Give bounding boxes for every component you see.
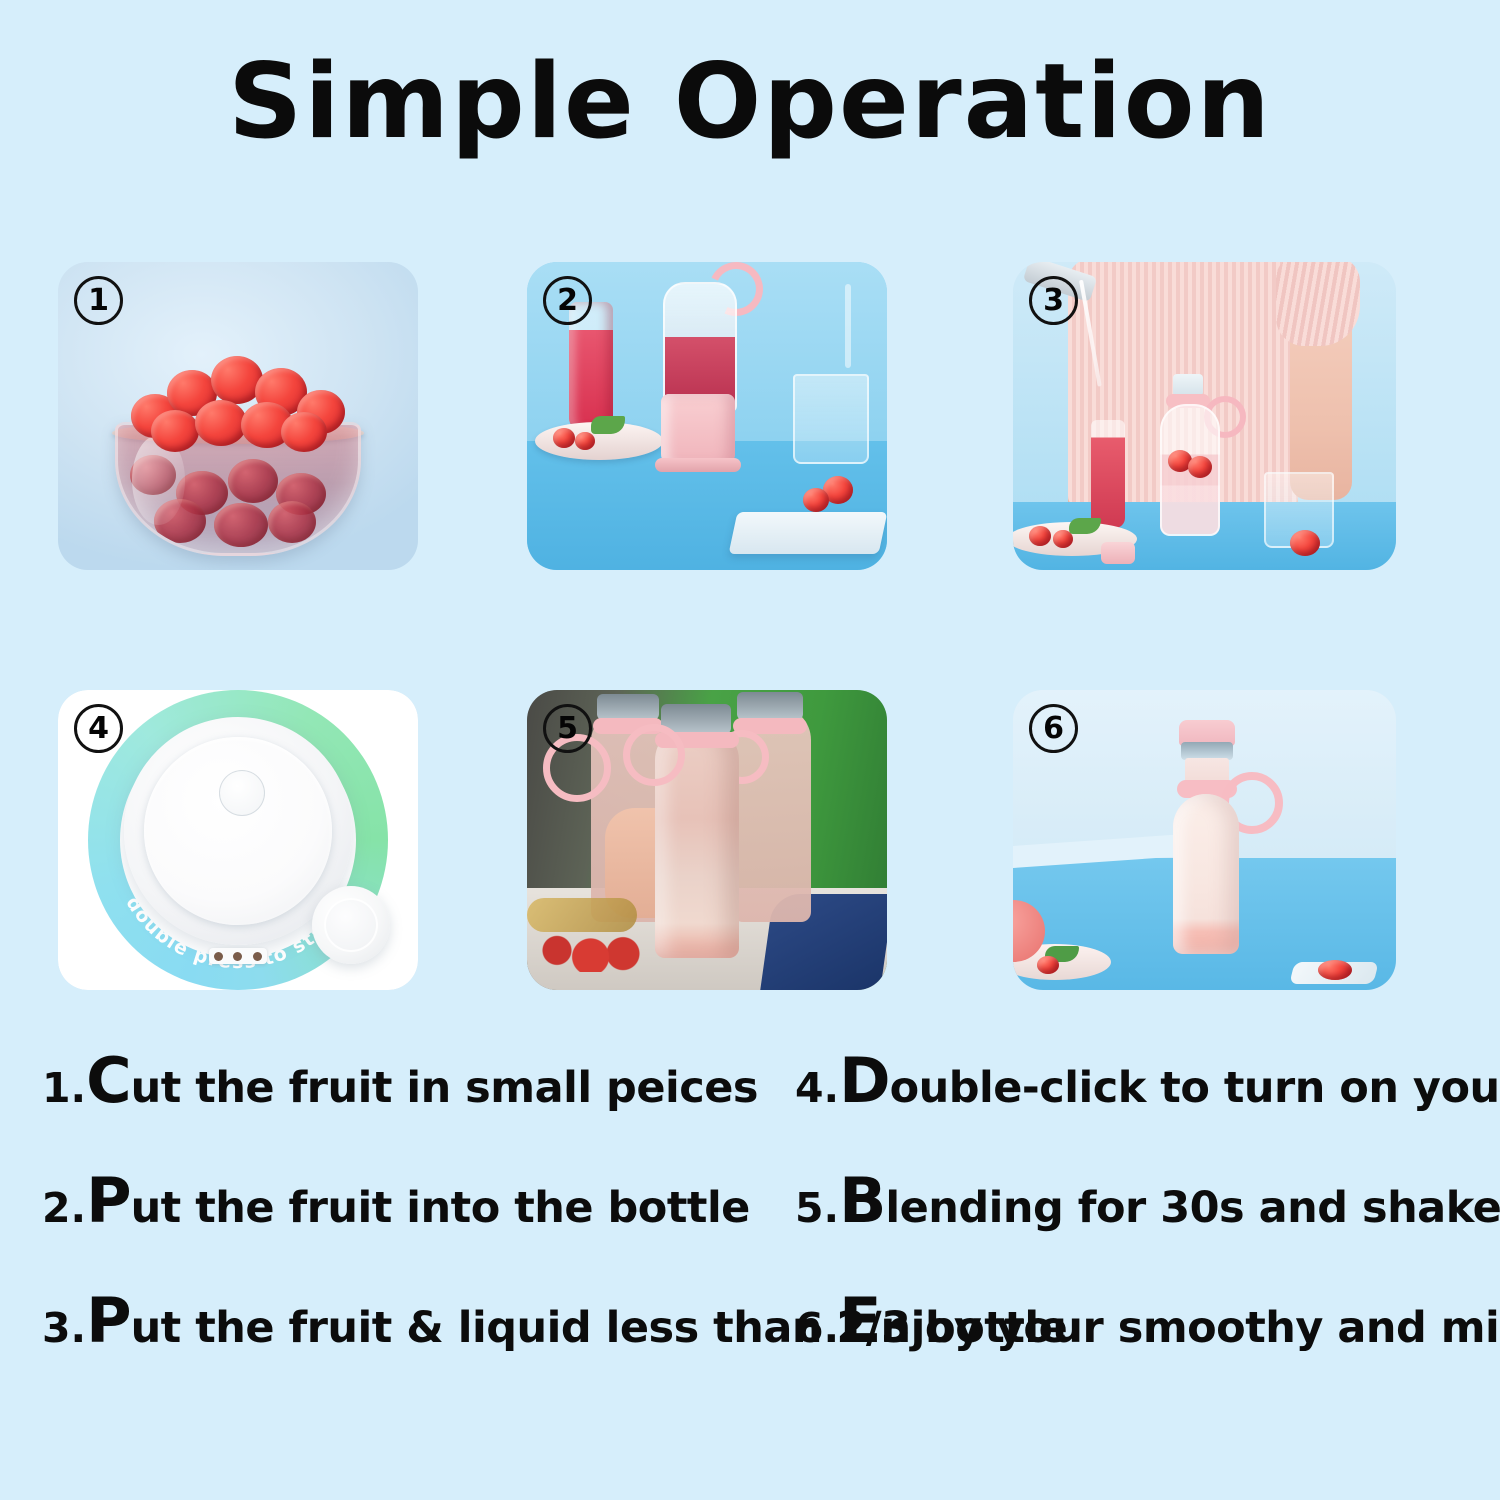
step-number: 6.: [795, 1304, 839, 1352]
step-item-4: 4.Double-click to turn on your blender: [795, 1050, 1500, 1112]
step-text: ut the fruit in small peices: [131, 1063, 758, 1113]
blender-base-lid: [144, 737, 332, 925]
panel-step-4: double press to start 4: [58, 690, 418, 990]
infographic-page: Simple Operation: [0, 0, 1500, 1500]
instruction-list: 1.Cut the fruit in small peices 2.Put th…: [0, 1028, 1500, 1358]
portable-blender: [659, 268, 737, 468]
contact-pin: [214, 952, 223, 961]
bottle-cap: [312, 886, 390, 964]
panel-step-6: 6: [1013, 690, 1396, 990]
step-dropcap: B: [839, 1164, 885, 1237]
bottle-body: [1173, 794, 1239, 954]
step-number: 4.: [795, 1064, 839, 1112]
fruit-plate: [535, 422, 663, 460]
smoothie-carafe: [1091, 420, 1125, 528]
step-number: 2.: [42, 1184, 86, 1232]
step-dropcap: P: [86, 1164, 130, 1237]
person-sleeve: [1276, 262, 1360, 346]
raspberry-pile: [125, 354, 351, 450]
step-badge-2: 2: [543, 276, 592, 325]
page-title: Simple Operation: [0, 48, 1500, 156]
straw: [845, 284, 851, 368]
step-badge-1: 1: [74, 276, 123, 325]
step-dropcap: D: [839, 1044, 889, 1117]
step-text: ouble-click to turn on your blender: [890, 1063, 1500, 1113]
contact-pin: [233, 952, 242, 961]
step-text: lending for 30s and shake the bottle.: [885, 1183, 1500, 1233]
panel-step-2: 2: [527, 262, 887, 570]
charging-contacts: [209, 948, 267, 964]
step-item-6: 6.Enjoy your smoothy and milkshakes.: [795, 1290, 1500, 1352]
step-number: 5.: [795, 1184, 839, 1232]
step-dropcap: P: [86, 1284, 130, 1357]
smoothie-bottle: [1159, 720, 1251, 972]
blender-bottle: [1156, 374, 1220, 546]
step-badge-5: 5: [543, 704, 592, 753]
step-item-2: 2.Put the fruit into the bottle: [42, 1170, 750, 1232]
bottle-ring-main: [623, 724, 685, 786]
step-dropcap: C: [86, 1044, 131, 1117]
step-item-5: 5.Blending for 30s and shake the bottle.: [795, 1170, 1500, 1232]
step-number: 3.: [42, 1304, 86, 1352]
step-text: ut the fruit into the bottle: [131, 1183, 750, 1233]
bottle-cap-right: [737, 692, 803, 720]
step-text: njoy your smoothy and milkshakes.: [880, 1303, 1500, 1353]
step-item-1: 1.Cut the fruit in small peices: [42, 1050, 758, 1112]
step-badge-6: 6: [1029, 704, 1078, 753]
bottle-body: [1160, 404, 1220, 536]
blender-base: [661, 394, 735, 466]
panel-step-5: 5: [527, 690, 887, 990]
step-badge-4: 4: [74, 704, 123, 753]
step-dropcap: E: [839, 1284, 880, 1357]
cutting-board: [729, 512, 887, 554]
drinking-glass: [793, 374, 869, 464]
bottle-cap-left: [597, 694, 659, 720]
blender-jar: [663, 282, 737, 412]
step-number: 1.: [42, 1064, 86, 1112]
strawberries: [533, 918, 653, 972]
blender-foot: [655, 458, 741, 472]
step-badge-3: 3: [1029, 276, 1078, 325]
bottle-cap: [1101, 542, 1135, 564]
bottle-neck: [1173, 374, 1203, 396]
power-button[interactable]: [219, 770, 265, 816]
panel-step-3: 3: [1013, 262, 1396, 570]
contact-pin: [253, 952, 262, 961]
panel-grid: 1: [0, 262, 1500, 1012]
panel-step-1: 1: [58, 262, 418, 570]
